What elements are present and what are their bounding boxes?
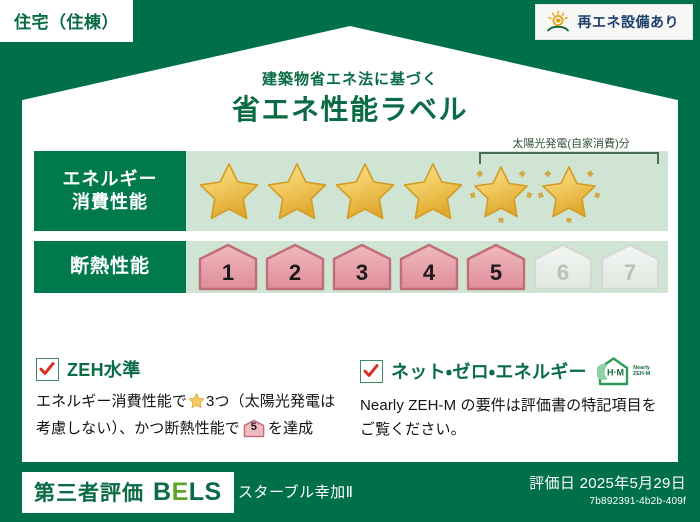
energy-row-label-line1: エネルギー (63, 168, 158, 191)
criterion-zeh-body-count: 3つ（太陽光発電 (206, 393, 320, 410)
criterion-net-zero-header: ネット・ゼロ・エネルギー H·M Nearly ZEH-M (360, 356, 666, 386)
grade-house-7-number: 7 (624, 260, 636, 293)
property-name: スターブル幸加Ⅱ (238, 481, 353, 502)
criterion-zeh-title: ZEH水準 (67, 356, 141, 382)
energy-star-track: 太陽光発電(自家消費)分 (186, 151, 668, 231)
star-solar-5 (468, 158, 534, 224)
bels-letter-b: B (153, 478, 172, 506)
grade-house-2-number: 2 (289, 260, 301, 293)
label-subtitle: 建築物省エネ法に基づく (22, 68, 678, 89)
grade-house-1-number: 1 (222, 260, 234, 293)
zeh-m-logo: H·M Nearly ZEH-M (597, 356, 650, 386)
zeh-m-sub-line1: Nearly (633, 365, 650, 371)
grade-house-4-number: 4 (423, 260, 435, 293)
bels-letter-l: L (189, 478, 205, 506)
metric-rows: エネルギー 消費性能 太陽光発電(自家消費)分 (34, 151, 668, 303)
label-footer: 第三者評価 BELS スターブル幸加Ⅱ 評価日 2025年5月29日 7b892… (0, 462, 700, 522)
grade-house-2: 2 (263, 241, 327, 293)
inline-grade-house-icon: 5 (243, 419, 265, 438)
criterion-zeh: ZEH水準 エネルギー消費性能で3つ（太陽光発電は考慮しない）、かつ断熱性能で5… (36, 356, 342, 441)
zeh-m-house-icon: H·M (597, 356, 631, 386)
solar-sun-icon (545, 10, 571, 34)
criterion-zeh-body-post: を達成 (268, 420, 313, 437)
insulation-grade-list: 1 2 (186, 241, 662, 293)
grade-house-3: 3 (330, 241, 394, 293)
building-type-chip: 住宅（住棟） (0, 0, 133, 42)
energy-row-label: エネルギー 消費性能 (34, 151, 186, 231)
insulation-row-label-text: 断熱性能 (70, 255, 150, 279)
star-filled-3 (332, 158, 398, 224)
evaluation-info: 評価日 2025年5月29日 7b892391-4b2b-409f (529, 472, 686, 507)
insulation-grade-track: 1 2 (186, 241, 668, 293)
check-icon (360, 360, 383, 383)
bels-letter-e: E (172, 478, 189, 506)
grade-house-3-number: 3 (356, 260, 368, 293)
criterion-zeh-header: ZEH水準 (36, 356, 342, 382)
bels-lead-text: 第三者評価 (34, 477, 144, 507)
criterion-net-zero: ネット・ゼロ・エネルギー H·M Nearly ZEH-M (360, 356, 666, 441)
criterion-zeh-body-pre: エネルギー消費性能で (36, 393, 187, 410)
renewable-badge-label: 再エネ設備あり (578, 12, 680, 32)
criteria-section: ZEH水準 エネルギー消費性能で3つ（太陽光発電は考慮しない）、かつ断熱性能で5… (36, 356, 666, 441)
bels-letter-s: S (205, 478, 222, 506)
renewable-energy-badge: 再エネ設備あり (536, 5, 693, 39)
star-rating (186, 158, 602, 224)
grade-house-6: 6 (531, 241, 595, 293)
evaluation-id: 7b892391-4b2b-409f (529, 496, 686, 507)
grade-house-1: 1 (196, 241, 260, 293)
zeh-m-sub-line2: ZEH-M (633, 371, 650, 377)
criterion-net-zero-title: ネット・ゼロ・エネルギー (391, 358, 587, 384)
criterion-zeh-body: エネルギー消費性能で3つ（太陽光発電は考慮しない）、かつ断熱性能で5を達成 (36, 390, 342, 440)
page-title: 省エネ性能ラベル (22, 88, 678, 128)
star-filled-2 (264, 158, 330, 224)
star-filled-4 (400, 158, 466, 224)
star-solar-6 (536, 158, 602, 224)
inline-grade-number: 5 (243, 419, 265, 436)
evaluation-date: 評価日 2025年5月29日 (529, 472, 686, 493)
grade-house-4: 4 (397, 241, 461, 293)
label-panel: 建築物省エネ法に基づく 省エネ性能ラベル エネルギー 消費性能 太陽光発電(自家… (22, 26, 678, 462)
check-icon (36, 358, 59, 381)
inline-star-icon (188, 392, 205, 417)
insulation-performance-row: 断熱性能 (34, 241, 668, 293)
grade-house-5-number: 5 (490, 260, 502, 293)
bels-logo: BELS (153, 478, 222, 507)
bels-certification-chip: 第三者評価 BELS (22, 472, 234, 513)
grade-house-7: 7 (598, 241, 662, 293)
energy-performance-row: エネルギー 消費性能 太陽光発電(自家消費)分 (34, 151, 668, 231)
energy-row-label-line2: 消費性能 (72, 191, 148, 214)
solar-annotation-label: 太陽光発電(自家消費)分 (480, 135, 662, 151)
criterion-net-zero-body: Nearly ZEH-M の要件は評価書の特記項目をご覧ください。 (360, 394, 666, 441)
insulation-row-label: 断熱性能 (34, 241, 186, 293)
energy-label-root: 住宅（住棟） 再エネ設備あり 建築物省エネ法に基づく 省エネ性能ラベル (0, 0, 700, 522)
grade-house-6-number: 6 (557, 260, 569, 293)
svg-text:H·M: H·M (607, 368, 624, 378)
star-filled-1 (196, 158, 262, 224)
grade-house-5: 5 (464, 241, 528, 293)
zeh-m-logo-sub: Nearly ZEH-M (633, 365, 650, 378)
